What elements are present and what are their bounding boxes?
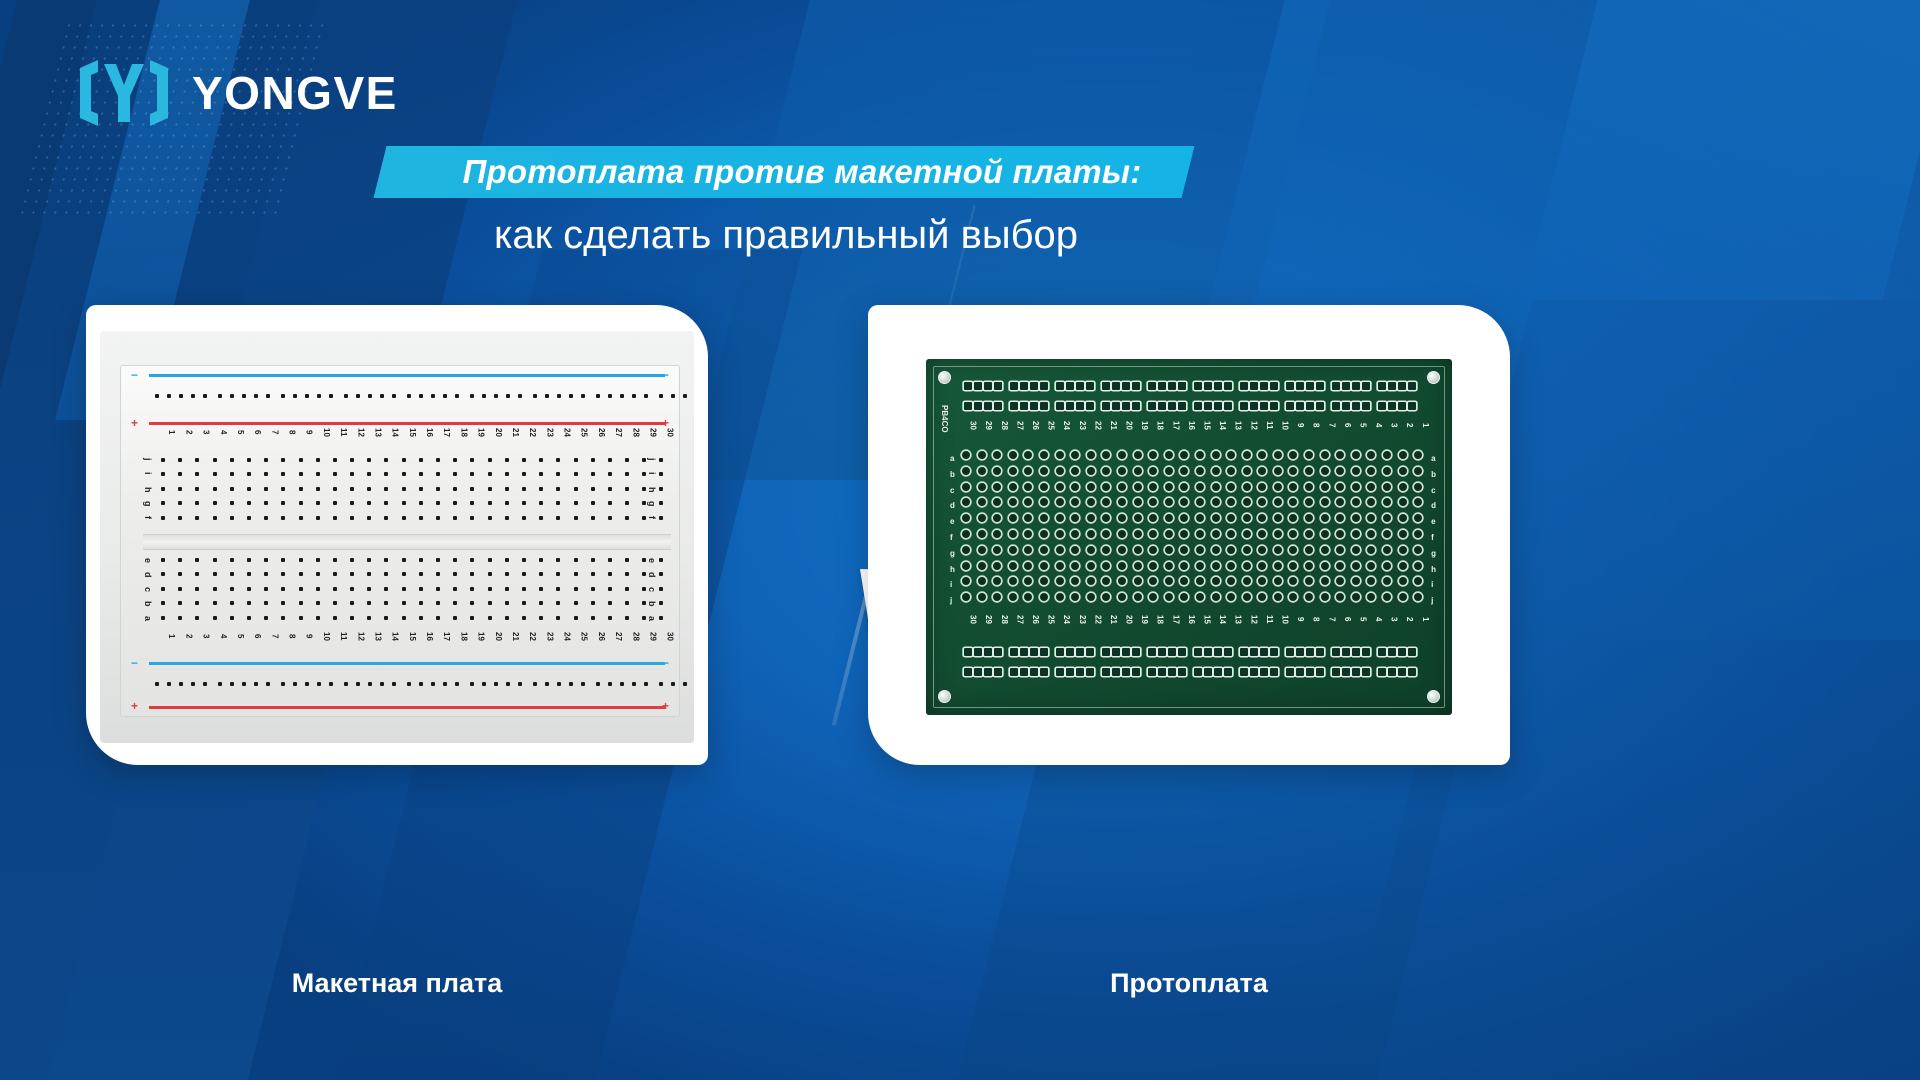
column-number: 26 — [589, 428, 606, 437]
protoboard-column-number: 17 — [1165, 421, 1181, 430]
breadboard-hole — [505, 487, 509, 491]
protoboard-square-pad — [1286, 382, 1294, 390]
breadboard-hole — [333, 501, 337, 505]
rail-hole — [380, 394, 384, 398]
column-number: 13 — [365, 428, 382, 437]
rail-hole — [632, 682, 636, 686]
breadboard-hole — [556, 516, 560, 520]
protoboard-square-pad — [1076, 382, 1084, 390]
protoboard-square-pad — [1056, 668, 1064, 676]
protoboard-rail-group — [1330, 401, 1372, 411]
protoboard-square-pad — [1030, 382, 1038, 390]
protoboard-pad — [1227, 467, 1235, 475]
protoboard-square-pad — [1076, 648, 1084, 656]
protoboard-pad — [1149, 530, 1157, 538]
protoboard-pad — [1243, 514, 1251, 522]
breadboard-hole — [419, 601, 423, 605]
protoboard-pad — [1336, 577, 1344, 585]
protoboard-pad — [1414, 514, 1422, 522]
protoboard-pad — [1056, 451, 1064, 459]
breadboard-hole — [505, 558, 509, 562]
column-numbers-top: 1234567891011121314151617181920212223242… — [159, 428, 675, 437]
breadboard-hole — [281, 616, 285, 620]
breadboard-hole — [281, 501, 285, 505]
protoboard-pad — [1352, 467, 1360, 475]
protoboard-pad — [1165, 514, 1173, 522]
rail-hole — [569, 394, 573, 398]
breadboard-hole — [419, 616, 423, 620]
protoboard-column-number: 30 — [962, 421, 978, 430]
breadboard-hole — [281, 487, 285, 491]
rail-hole — [218, 394, 222, 398]
breadboard-hole — [522, 572, 526, 576]
breadboard-hole — [453, 516, 457, 520]
protoboard-pad — [1399, 467, 1407, 475]
protoboard-column-number: 16 — [1180, 421, 1196, 430]
rail-hole — [443, 394, 447, 398]
breadboard-hole — [195, 472, 199, 476]
protoboard-square-pad — [1408, 382, 1416, 390]
breadboard-hole — [642, 601, 646, 605]
protoboard-pad — [1352, 546, 1360, 554]
rail-plus-mark-bottom-right: + — [662, 699, 669, 713]
breadboard-hole — [333, 558, 337, 562]
protoboard-square-pad — [1168, 648, 1176, 656]
protoboard-pad — [1274, 562, 1282, 570]
column-number: 22 — [520, 428, 537, 437]
protoboard-square-pad — [1342, 648, 1350, 656]
column-number: 5 — [228, 428, 245, 437]
rail-hole — [470, 682, 474, 686]
protoboard-pad — [1274, 483, 1282, 491]
breadboard-hole — [299, 601, 303, 605]
protoboard-pad — [1243, 577, 1251, 585]
protoboard-square-pad — [1342, 382, 1350, 390]
protoboard-pad — [962, 483, 970, 491]
rail-hole — [659, 682, 663, 686]
protoboard-pad — [1149, 562, 1157, 570]
protoboard-square-pad — [1332, 648, 1340, 656]
breadboard-hole — [419, 487, 423, 491]
protoboard-pad — [1243, 562, 1251, 570]
column-number: 16 — [417, 632, 434, 641]
rail-hole — [431, 394, 435, 398]
protoboard-pad — [1149, 546, 1157, 554]
breadboard-hole — [625, 516, 629, 520]
protoboard-pad — [1399, 562, 1407, 570]
breadboard-hole — [281, 572, 285, 576]
protoboard-pad — [1414, 593, 1422, 601]
protoboard-column-number: 28 — [993, 615, 1009, 624]
breadboard-hole — [642, 587, 646, 591]
protoboard-row-letter: f — [1431, 530, 1436, 546]
breadboard-hole — [350, 601, 354, 605]
protoboard-pad — [962, 467, 970, 475]
protoboard-pad — [1102, 562, 1110, 570]
protoboard-row-letter: i — [950, 577, 955, 593]
column-number: 25 — [572, 632, 589, 641]
protoboard-pad — [1196, 451, 1204, 459]
rail-hole — [671, 682, 675, 686]
breadboard-hole — [264, 501, 268, 505]
protoboard-pad — [1227, 530, 1235, 538]
protoboard-pad — [1087, 577, 1095, 585]
rail-hole — [494, 394, 498, 398]
protoboard-pad — [978, 593, 986, 601]
protoboard-square-pad — [1352, 402, 1360, 410]
protoboard-square-pad — [1178, 648, 1186, 656]
breadboard-hole — [299, 472, 303, 476]
breadboard-hole — [522, 472, 526, 476]
breadboard-hole — [659, 472, 663, 476]
protoboard-pad — [1165, 593, 1173, 601]
protoboard-pad — [1321, 593, 1329, 601]
protoboard-power-rail-bottom — [962, 667, 1418, 677]
protoboard-column-number: 11 — [1258, 615, 1274, 624]
protoboard-square-pad — [1260, 402, 1268, 410]
rail-hole — [242, 394, 246, 398]
breadboard-hole — [539, 601, 543, 605]
protoboard-square-pad — [1204, 648, 1212, 656]
rail-hole — [305, 682, 309, 686]
breadboard-hole — [470, 616, 474, 620]
protoboard-square-pad — [1010, 648, 1018, 656]
protoboard-pad — [1087, 593, 1095, 601]
protoboard-pad — [1212, 498, 1220, 506]
rail-hole — [557, 682, 561, 686]
column-number: 30 — [657, 428, 674, 437]
protoboard-square-pad — [1040, 648, 1048, 656]
protoboard-pad — [1352, 593, 1360, 601]
protoboard-square-pad — [1260, 382, 1268, 390]
breadboard-hole — [608, 587, 612, 591]
column-number: 19 — [468, 632, 485, 641]
breadboard-hole — [522, 458, 526, 462]
rail-positive-bottom — [149, 706, 665, 709]
protoboard-square-pad — [1040, 668, 1048, 676]
protoboard-pad — [1289, 546, 1297, 554]
breadboard-hole — [608, 458, 612, 462]
breadboard-hole — [470, 472, 474, 476]
protoboard-column-number: 8 — [1305, 615, 1321, 624]
protoboard-square-pad — [964, 668, 972, 676]
rail-hole — [266, 394, 270, 398]
protoboard-pad — [1071, 546, 1079, 554]
rail-hole-group — [155, 394, 207, 398]
protoboard-pad — [1134, 530, 1142, 538]
protoboard-pad — [1305, 530, 1313, 538]
protoboard-square-pad — [1056, 382, 1064, 390]
protoboard-pad — [1009, 577, 1017, 585]
rail-hole — [242, 682, 246, 686]
protoboard-square-pad — [1306, 402, 1314, 410]
protoboard-square-pad — [1388, 402, 1396, 410]
protoboard-pad — [1289, 467, 1297, 475]
column-number: 29 — [640, 632, 657, 641]
protoboard-row-letter: i — [1431, 577, 1436, 593]
protoboard-square-pad — [1148, 402, 1156, 410]
rail-minus-mark-bottom-left: − — [131, 656, 138, 670]
protoboard-pad — [1274, 577, 1282, 585]
protoboard-pad — [978, 514, 986, 522]
protoboard-pad — [993, 451, 1001, 459]
rail-hole — [596, 682, 600, 686]
row-letter: b — [647, 601, 657, 615]
breadboard-hole — [574, 601, 578, 605]
protoboard-pad — [1305, 546, 1313, 554]
protoboard-pad — [1040, 530, 1048, 538]
protoboard-pad — [1352, 530, 1360, 538]
protoboard-pad — [1321, 498, 1329, 506]
breadboard-hole — [419, 587, 423, 591]
breadboard-hole — [659, 516, 663, 520]
breadboard-hole — [453, 487, 457, 491]
protoboard-pad — [1352, 514, 1360, 522]
protoboard-pad — [1056, 483, 1064, 491]
rail-hole — [455, 682, 459, 686]
protoboard-pad — [1399, 498, 1407, 506]
breadboard-hole — [402, 587, 406, 591]
breadboard-grid-top — [161, 458, 677, 530]
protoboard-column-number: 10 — [1274, 615, 1290, 624]
protoboard-pad — [1165, 483, 1173, 491]
protoboard-column-number: 2 — [1399, 421, 1415, 430]
breadboard-hole — [350, 472, 354, 476]
breadboard-hole — [213, 487, 217, 491]
protoboard-square-pad — [1342, 668, 1350, 676]
protoboard-square-pad — [1270, 402, 1278, 410]
protoboard-pad — [1056, 593, 1064, 601]
breadboard-hole — [247, 616, 251, 620]
breadboard-hole — [350, 558, 354, 562]
protoboard-square-pad — [1316, 648, 1324, 656]
protoboard-square-pad — [964, 382, 972, 390]
breadboard-hole — [436, 516, 440, 520]
rail-hole — [392, 394, 396, 398]
protoboard-pad — [1009, 546, 1017, 554]
protoboard-rail-group — [1054, 647, 1096, 657]
protoboard-square-pad — [1204, 668, 1212, 676]
breadboard-hole — [384, 558, 388, 562]
breadboard-hole — [591, 487, 595, 491]
protoboard-pad — [978, 530, 986, 538]
breadboard-hole — [367, 516, 371, 520]
protoboard-square-pad — [1316, 668, 1324, 676]
breadboard-hole — [402, 472, 406, 476]
mounting-hole-top-right — [1427, 371, 1440, 384]
protoboard-pad — [1227, 577, 1235, 585]
rail-hole — [293, 394, 297, 398]
protoboard-pad — [978, 562, 986, 570]
breadboard-hole — [264, 487, 268, 491]
protoboard-column-number: 3 — [1383, 421, 1399, 430]
rail-hole — [620, 682, 624, 686]
protoboard-square-pad — [1122, 402, 1130, 410]
protoboard-pad — [1009, 483, 1017, 491]
breadboard-card: − − + + 12345678910111213141516171819202… — [86, 305, 708, 765]
breadboard-hole — [574, 472, 578, 476]
breadboard-hole — [556, 472, 560, 476]
board-silkscreen-label: PB4CO — [940, 405, 949, 433]
protoboard-pad — [1414, 546, 1422, 554]
breadboard-hole — [161, 472, 165, 476]
protoboard-pad — [1040, 514, 1048, 522]
protoboard-rail-group — [1376, 401, 1418, 411]
breadboard-hole — [659, 501, 663, 505]
rail-hole — [317, 682, 321, 686]
breadboard-hole — [608, 572, 612, 576]
protoboard-square-pad — [1398, 382, 1406, 390]
protoboard-pad — [1367, 562, 1375, 570]
protoboard-row-letter: g — [1431, 546, 1436, 562]
breadboard-hole — [453, 572, 457, 576]
protoboard-pad — [1258, 530, 1266, 538]
protoboard-square-pad — [1214, 648, 1222, 656]
protoboard-pad — [1118, 546, 1126, 554]
breadboard-hole — [367, 501, 371, 505]
row-letter: a — [143, 616, 153, 630]
protoboard-pad — [1009, 530, 1017, 538]
protoboard-pad — [1102, 467, 1110, 475]
protoboard-square-pad — [1240, 402, 1248, 410]
breadboard-hole — [247, 458, 251, 462]
protoboard-square-pad — [1194, 382, 1202, 390]
breadboard-hole — [350, 487, 354, 491]
protoboard-rail-group — [962, 667, 1004, 677]
column-number: 2 — [176, 428, 193, 437]
breadboard-hole — [488, 601, 492, 605]
rail-hole — [155, 682, 159, 686]
protoboard-pad — [1274, 451, 1282, 459]
breadboard-photo: − − + + 12345678910111213141516171819202… — [100, 331, 694, 743]
protoboard-column-number: 24 — [1056, 615, 1072, 624]
protoboard-column-number: 7 — [1321, 615, 1337, 624]
breadboard-hole — [213, 601, 217, 605]
protoboard-pad — [962, 498, 970, 506]
protoboard-pad — [1289, 530, 1297, 538]
column-number: 1 — [159, 632, 176, 641]
breadboard-hole — [161, 501, 165, 505]
protoboard-pad — [1274, 514, 1282, 522]
rail-hole — [419, 682, 423, 686]
breadboard-hole — [230, 558, 234, 562]
protoboard-column-number: 15 — [1196, 421, 1212, 430]
protoboard-pad — [1102, 593, 1110, 601]
breadboard-hole — [316, 558, 320, 562]
breadboard-hole — [659, 587, 663, 591]
rail-hole — [368, 682, 372, 686]
breadboard-hole — [625, 558, 629, 562]
protoboard-pad — [1040, 562, 1048, 570]
protoboard-pad — [1274, 467, 1282, 475]
rail-hole — [581, 394, 585, 398]
protoboard-column-number: 9 — [1289, 421, 1305, 430]
breadboard-hole — [299, 458, 303, 462]
breadboard-hole — [608, 501, 612, 505]
breadboard-hole — [333, 472, 337, 476]
protoboard-pad — [1258, 514, 1266, 522]
protoboard-row-letter: h — [1431, 562, 1436, 578]
protoboard-square-pad — [1040, 402, 1048, 410]
protoboard-pad — [1134, 451, 1142, 459]
protoboard-square-pad — [1240, 382, 1248, 390]
protoboard-rail-group — [1146, 381, 1188, 391]
protoboard-pad — [1336, 483, 1344, 491]
breadboard-hole — [213, 501, 217, 505]
protoboard-column-number: 23 — [1071, 615, 1087, 624]
breadboard-hole — [659, 558, 663, 562]
protoboard-pad — [1305, 498, 1313, 506]
rail-hole-group — [533, 682, 585, 686]
protoboard-column-number: 10 — [1274, 421, 1290, 430]
protoboard-pad — [1414, 467, 1422, 475]
protoboard-row-letter: d — [950, 498, 955, 514]
protoboard-pad — [1180, 562, 1188, 570]
breadboard-hole — [539, 587, 543, 591]
column-number: 8 — [279, 428, 296, 437]
rail-hole — [683, 394, 687, 398]
breadboard-hole — [299, 587, 303, 591]
protoboard-pad — [1009, 467, 1017, 475]
protoboard-square-pad — [1408, 402, 1416, 410]
breadboard-hole — [453, 472, 457, 476]
protoboard-square-pad — [1270, 668, 1278, 676]
protoboard-pad — [1196, 467, 1204, 475]
protoboard-square-pad — [1224, 382, 1232, 390]
protoboard-square-pad — [1286, 648, 1294, 656]
column-number: 26 — [589, 632, 606, 641]
protoboard-power-rail-top-2 — [962, 401, 1418, 411]
breadboard-hole — [419, 516, 423, 520]
protoboard-pad — [1024, 483, 1032, 491]
breadboard-hole — [230, 472, 234, 476]
breadboard-hole — [488, 458, 492, 462]
protoboard-square-pad — [984, 668, 992, 676]
breadboard-hole — [195, 558, 199, 562]
protoboard-pad — [1383, 514, 1391, 522]
rail-hole — [518, 394, 522, 398]
protoboard-square-pad — [1250, 668, 1258, 676]
breadboard-hole — [608, 487, 612, 491]
protoboard-pad — [1321, 483, 1329, 491]
breadboard-hole — [384, 572, 388, 576]
rail-hole — [293, 682, 297, 686]
protoboard-square-pad — [1178, 382, 1186, 390]
breadboard-hole — [264, 458, 268, 462]
breadboard-hole — [591, 472, 595, 476]
breadboard-hole — [178, 587, 182, 591]
protoboard-rail-group — [1008, 401, 1050, 411]
breadboard-hole — [316, 458, 320, 462]
protoboard-square-pad — [1132, 402, 1140, 410]
protoboard-column-number: 24 — [1056, 421, 1072, 430]
row-letter: c — [143, 587, 153, 601]
protoboard-square-pad — [1362, 648, 1370, 656]
protoboard-pad — [978, 546, 986, 554]
protoboard-row-letter: b — [1431, 467, 1436, 483]
protoboard-pad — [1258, 546, 1266, 554]
protoboard-square-pad — [1158, 668, 1166, 676]
protoboard-pad — [1056, 530, 1064, 538]
column-number: 23 — [537, 428, 554, 437]
protoboard-pad — [1102, 483, 1110, 491]
rail-hole — [683, 682, 687, 686]
breadboard-hole — [659, 458, 663, 462]
protoboard-square-pad — [1378, 382, 1386, 390]
protoboard-square-pad — [1214, 382, 1222, 390]
protoboard-pad — [1258, 577, 1266, 585]
protoboard-square-pad — [974, 648, 982, 656]
